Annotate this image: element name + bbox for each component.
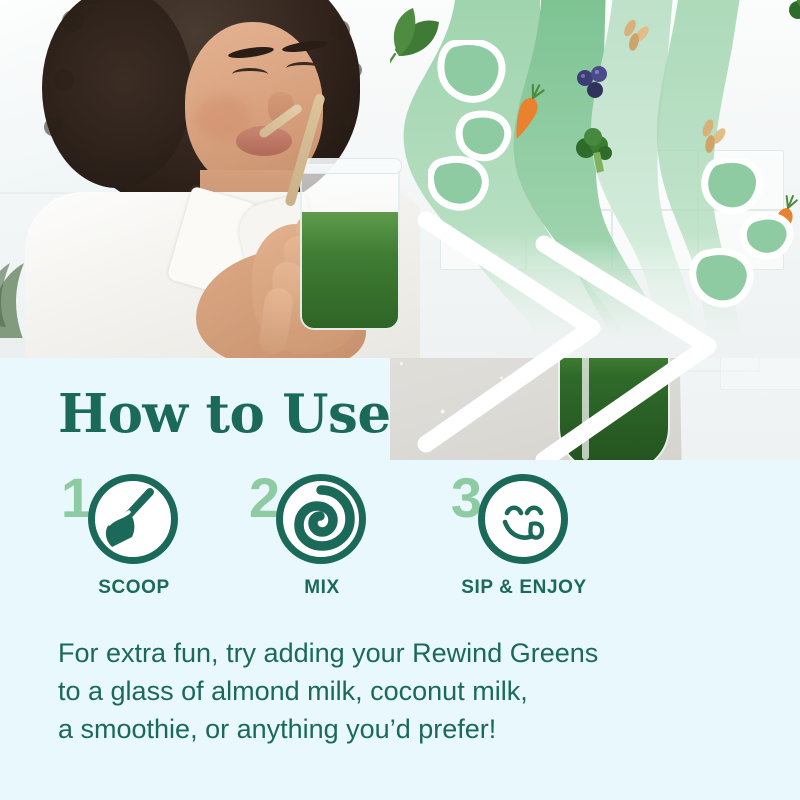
swirl-icon [276,474,366,564]
step-number: 3 [436,470,482,526]
step-item-mix[interactable]: 2 MIX [234,464,434,614]
how-to-use-card: How to Use 1 SCOOP 2 [0,0,800,800]
closed-eye-icon [286,62,322,75]
blurb-line: a smoothie, or anything you’d prefer! [58,710,758,748]
page-title: How to Use [58,383,391,445]
usage-blurb: For extra fun, try adding your Rewind Gr… [58,634,758,748]
step-number: 1 [46,470,92,526]
step-item-scoop[interactable]: 1 SCOOP [46,464,246,614]
steps-list: 1 SCOOP 2 MIX [46,464,746,614]
how-to-use-content: How to Use 1 SCOOP 2 [0,358,800,800]
step-label: SIP & ENJOY [436,577,612,599]
hero-photo-band [0,0,800,358]
step-label: SCOOP [46,577,222,599]
scoop-icon [88,474,178,564]
step-item-sip-enjoy[interactable]: 3 SIP & ENJOY [436,464,636,614]
step-number: 2 [234,470,280,526]
smoothie-jar [300,164,400,330]
smiley-tongue-icon [478,474,568,564]
blurb-line: to a glass of almond milk, coconut milk, [58,672,758,710]
blurb-line: For extra fun, try adding your Rewind Gr… [58,634,758,672]
step-label: MIX [234,577,410,599]
closed-eye-icon [232,68,268,81]
woman-drinking-photo [0,0,420,358]
